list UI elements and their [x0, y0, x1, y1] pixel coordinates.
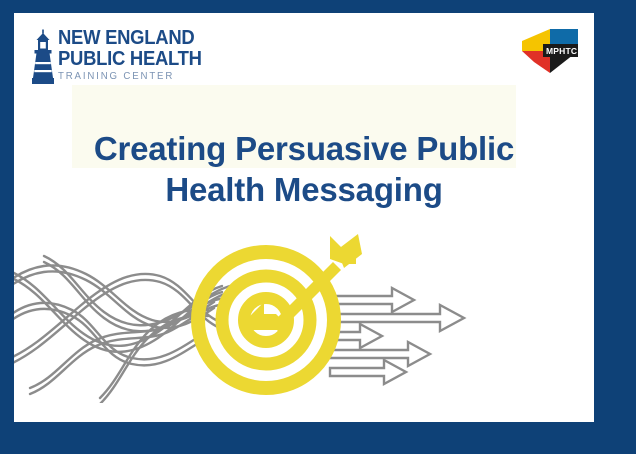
page-title-line1: Creating Persuasive Public [94, 130, 514, 167]
slide-title-accessible: Creating Persuasive Public Health Messag… [14, 13, 15, 14]
nephtc-wordmark: NEW ENGLAND PUBLIC HEALTH TRAINING CENTE… [58, 27, 190, 83]
nephtc-logo-line2: PUBLIC HEALTH [58, 48, 177, 69]
straight-arrows-icon [330, 288, 464, 384]
nephtc-logo-line1: NEW ENGLAND [58, 27, 177, 48]
mphtc-logo: MPHTC [514, 25, 586, 77]
nephtc-logo: NEW ENGLAND PUBLIC HEALTH TRAINING CENTE… [30, 27, 190, 89]
hero-graphic [14, 228, 594, 403]
nephtc-logo-line3: TRAINING CENTER [58, 69, 179, 83]
slide-canvas: NEW ENGLAND PUBLIC HEALTH TRAINING CENTE… [14, 13, 594, 422]
page-title-line2: Health Messaging [165, 171, 442, 208]
slide-frame: NEW ENGLAND PUBLIC HEALTH TRAINING CENTE… [0, 0, 636, 454]
lighthouse-icon [30, 29, 56, 85]
page-title: Creating Persuasive Public Health Messag… [44, 128, 564, 210]
mphtc-label: MPHTC [546, 46, 577, 56]
